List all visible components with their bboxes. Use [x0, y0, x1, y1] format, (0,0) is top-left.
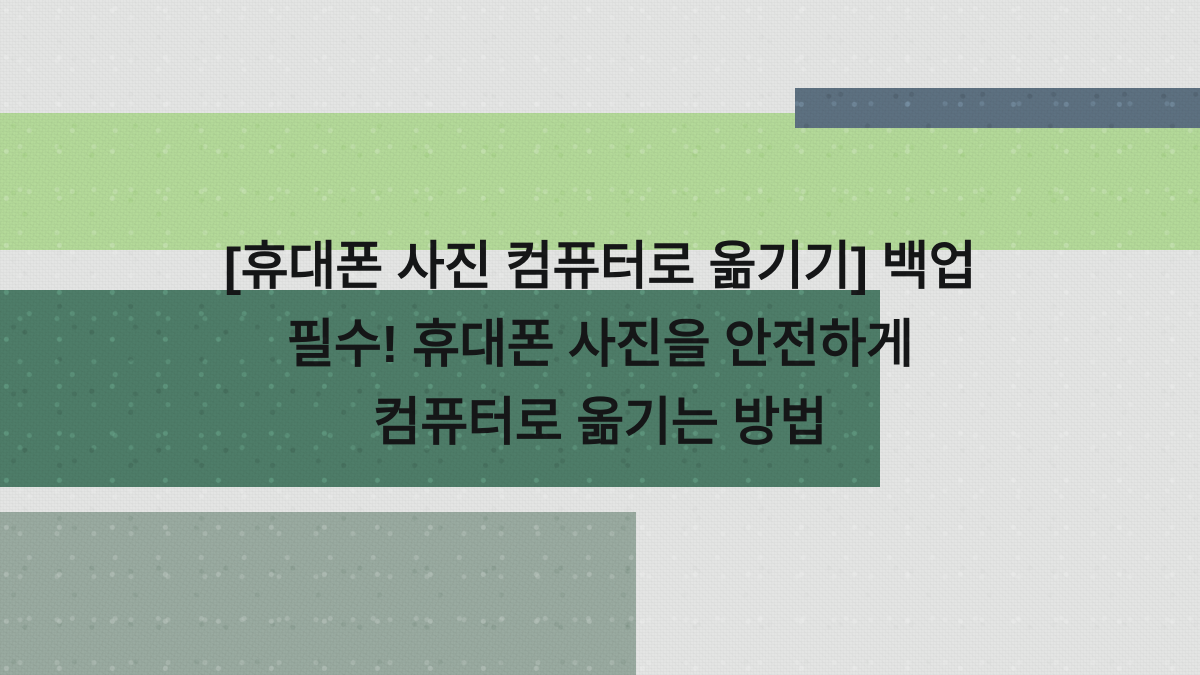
thumbnail-title: [휴대폰 사진 컴퓨터로 옮기기] 백업 필수! 휴대폰 사진을 안전하게 컴퓨… — [0, 0, 1200, 675]
title-line-3: 컴퓨터로 옮기는 방법 — [373, 384, 827, 462]
title-line-2: 필수! 휴대폰 사진을 안전하게 — [287, 306, 914, 384]
title-line-1: [휴대폰 사진 컴퓨터로 옮기기] 백업 — [224, 228, 976, 306]
thumbnail-canvas: [휴대폰 사진 컴퓨터로 옮기기] 백업 필수! 휴대폰 사진을 안전하게 컴퓨… — [0, 0, 1200, 675]
